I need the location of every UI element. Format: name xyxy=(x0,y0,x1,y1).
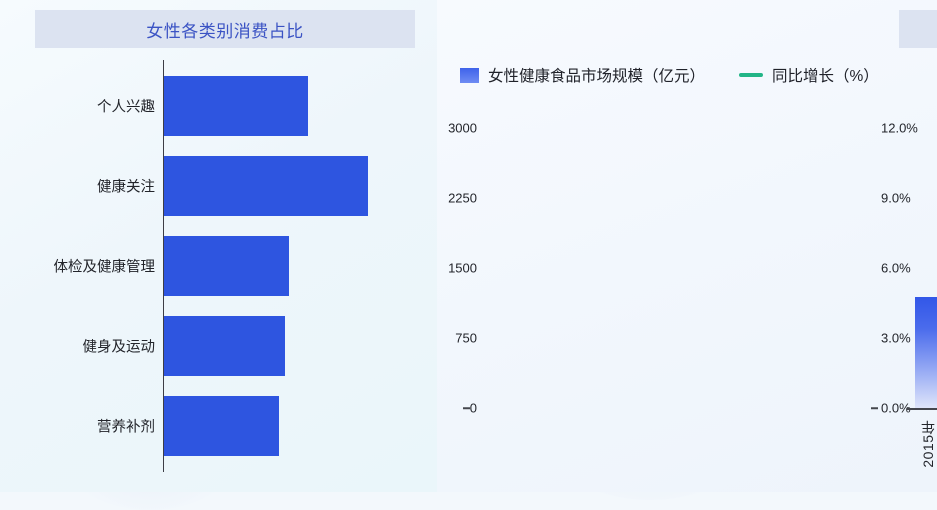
left-bar[interactable] xyxy=(164,316,285,376)
left-axis-zero-tick xyxy=(463,407,470,409)
right-chart-baseline xyxy=(907,408,937,410)
right-combo-chart-plot: 0750150022503000 0.0%3.0%6.0%9.0%12.0% 2… xyxy=(437,0,937,492)
left-bar-category-label: 体检及健康管理 xyxy=(54,256,156,277)
left-axis-tick-label: 0 xyxy=(470,401,477,416)
left-bar-row: 营养补剂 xyxy=(0,388,437,464)
left-bar-chart-plot: 个人兴趣健康关注体检及健康管理健身及运动营养补剂 xyxy=(0,60,437,480)
right-axis-tick-label: 3.0% xyxy=(881,331,911,346)
left-bar-row: 体检及健康管理 xyxy=(0,228,437,304)
left-bar-row: 个人兴趣 xyxy=(0,68,437,144)
left-axis-tick-label: 750 xyxy=(455,331,477,346)
left-bar[interactable] xyxy=(164,156,368,216)
right-axis-zero-tick xyxy=(871,407,878,409)
left-axis-tick-label: 3000 xyxy=(448,121,477,136)
left-bar-row: 健身及运动 xyxy=(0,308,437,384)
market-size-bar[interactable] xyxy=(915,297,937,408)
right-axis-tick-label: 12.0% xyxy=(881,121,918,136)
left-bar-row: 健康关注 xyxy=(0,148,437,224)
left-axis-tick-label: 2250 xyxy=(448,191,477,206)
left-axis-tick-label: 1500 xyxy=(448,261,477,276)
left-bar[interactable] xyxy=(164,236,289,296)
x-axis-label: 2015年 xyxy=(918,420,937,468)
left-bar-category-label: 健身及运动 xyxy=(83,336,156,357)
left-bar-category-label: 个人兴趣 xyxy=(97,96,155,117)
right-axis-tick-label: 6.0% xyxy=(881,261,911,276)
left-chart-title: 女性各类别消费占比 xyxy=(35,10,415,48)
left-bar[interactable] xyxy=(164,396,279,456)
left-bar[interactable] xyxy=(164,76,308,136)
right-axis-tick-label: 9.0% xyxy=(881,191,911,206)
left-bar-category-label: 营养补剂 xyxy=(97,416,155,437)
left-chart-panel: 女性各类别消费占比 个人兴趣健康关注体检及健康管理健身及运动营养补剂 xyxy=(0,0,437,492)
left-bar-category-label: 健康关注 xyxy=(97,176,155,197)
